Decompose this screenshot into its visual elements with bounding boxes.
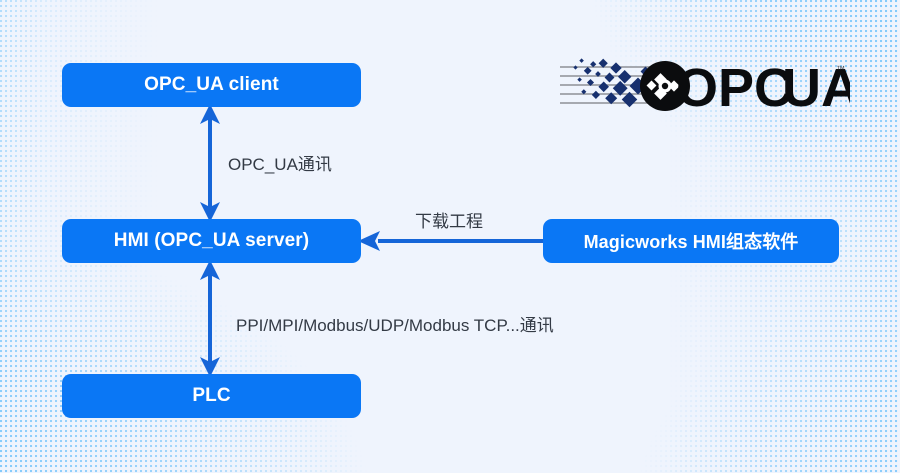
node-hmi-opcua-server-label: HMI (OPC_UA server) <box>114 230 309 252</box>
node-magicworks-hmi-software-label: Magicworks HMI组态软件 <box>584 228 799 254</box>
diagram-canvas: OPC UA ™ OPC_UA client HMI (OPC_UA serve… <box>0 0 900 473</box>
edge-label-fieldbus-communication: PPI/MPI/Modbus/UDP/Modbus TCP...通讯 <box>236 311 554 336</box>
node-plc[interactable]: PLC <box>62 374 361 418</box>
node-magicworks-hmi-software[interactable]: Magicworks HMI组态软件 <box>543 219 839 263</box>
opc-ua-logo-trademark: ™ <box>836 64 845 74</box>
opc-ua-logo-text-opc: OPC <box>676 58 793 114</box>
arrow-opcua-client-to-hmi <box>190 104 230 222</box>
edge-label-download-project: 下载工程 <box>415 207 483 232</box>
node-hmi-opcua-server[interactable]: HMI (OPC_UA server) <box>62 219 361 263</box>
node-opcua-client-label: OPC_UA client <box>144 74 279 96</box>
opc-ua-logo: OPC UA ™ <box>560 50 850 114</box>
node-opcua-client[interactable]: OPC_UA client <box>62 63 361 107</box>
node-plc-label: PLC <box>192 385 230 407</box>
arrow-hmi-to-plc <box>190 260 230 377</box>
edge-label-opcua-communication: OPC_UA通讯 <box>228 150 332 175</box>
